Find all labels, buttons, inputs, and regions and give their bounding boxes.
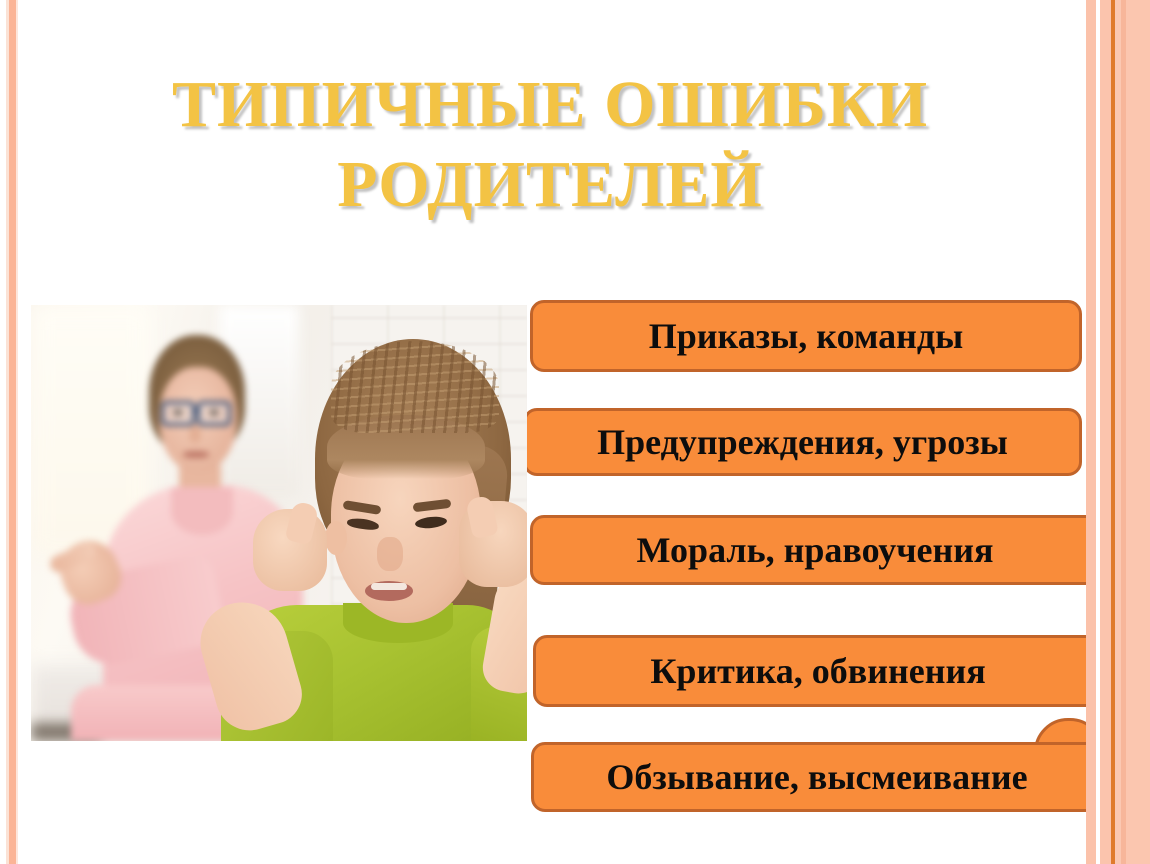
decor-stripe-left-2 xyxy=(9,0,16,864)
decor-stripe-right-7 xyxy=(1126,0,1150,864)
illustration-photo xyxy=(31,305,527,741)
decor-stripe-right-1 xyxy=(1086,0,1096,864)
girl-nose xyxy=(377,537,403,571)
decor-stripe-left-3 xyxy=(16,0,18,864)
page-title-line-2: РОДИТЕЛЕЙ xyxy=(100,152,1000,218)
list-item-pill-2[interactable]: Предупреждения, угрозы xyxy=(523,408,1082,476)
girl-braided-hair xyxy=(331,341,499,433)
list-item-pill-1[interactable]: Приказы, команды xyxy=(530,300,1082,372)
list-item-pill-3[interactable]: Мораль, нравоучения xyxy=(530,515,1100,585)
girl-left-ear xyxy=(325,521,347,555)
mother-collar xyxy=(171,487,233,535)
page-title: ТИПИЧНЫЕ ОШИБКИ РОДИТЕЛЕЙ xyxy=(100,72,1000,218)
glasses-left-lens xyxy=(161,401,195,426)
mother-nose xyxy=(189,425,201,443)
decor-stripe-right-3 xyxy=(1100,0,1111,864)
list-item-pill-4[interactable]: Критика, обвинения xyxy=(533,635,1103,707)
glasses-bridge xyxy=(194,409,200,412)
girl-teeth xyxy=(371,583,407,590)
mother-mouth xyxy=(183,451,209,458)
glasses-right-lens xyxy=(197,401,231,426)
page-title-line-1: ТИПИЧНЫЕ ОШИБКИ xyxy=(100,72,1000,138)
list-item-pill-5[interactable]: Обзывание, высмеивание xyxy=(531,742,1103,812)
